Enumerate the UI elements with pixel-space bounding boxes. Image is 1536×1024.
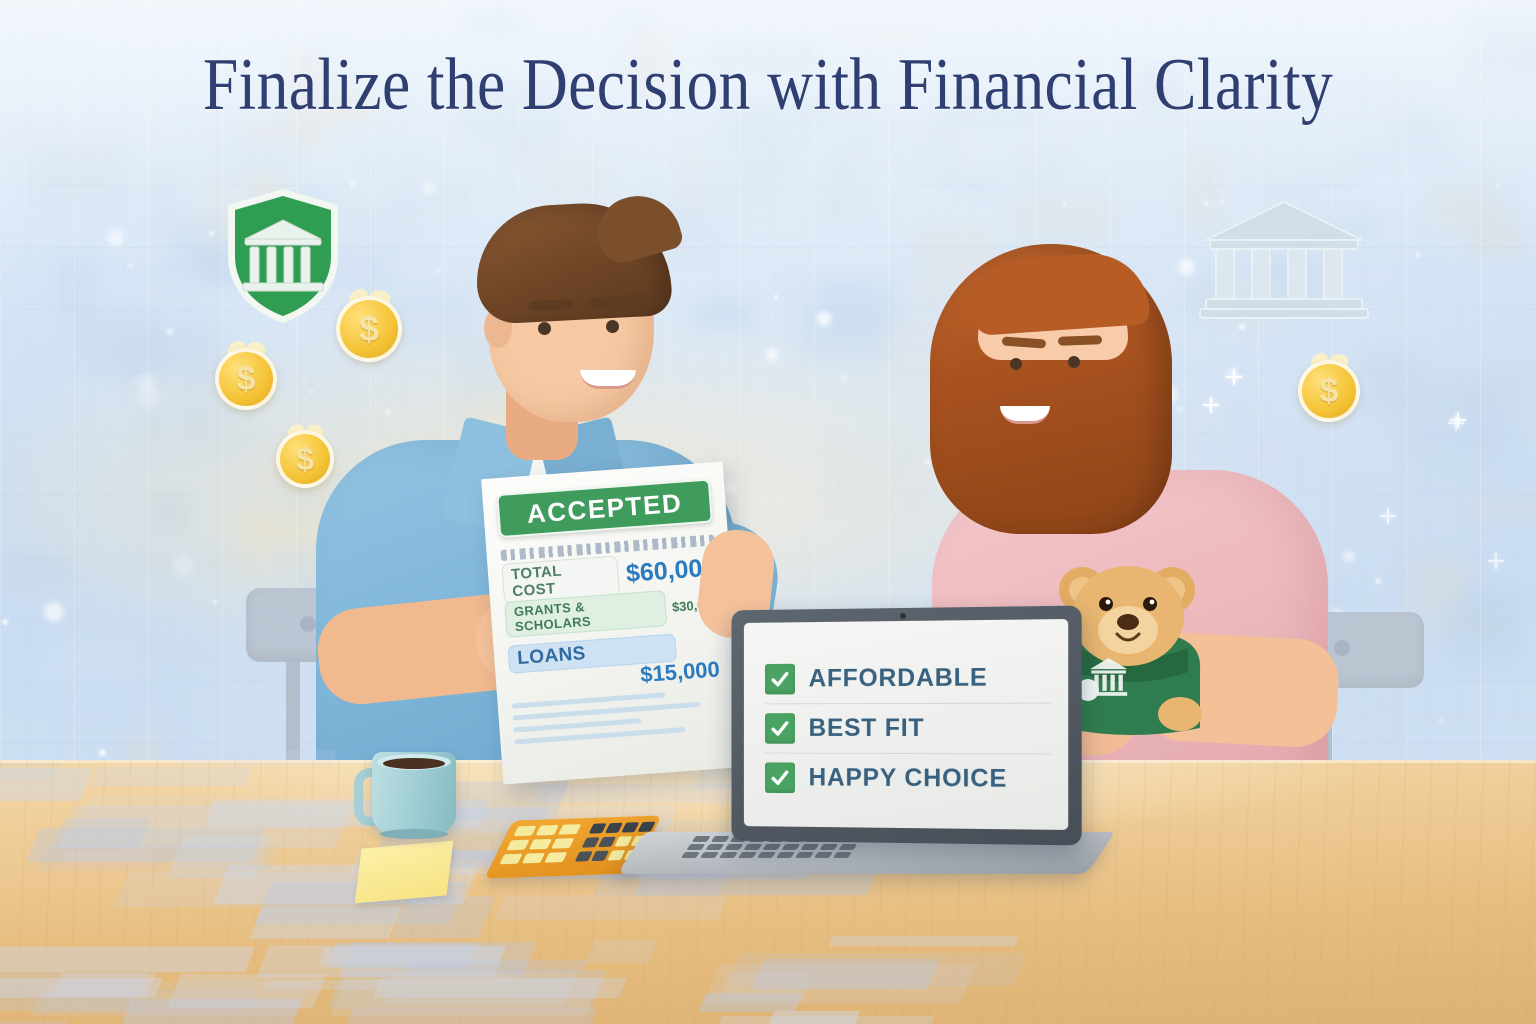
status-badge-accepted: ACCEPTED xyxy=(496,479,713,539)
checklist-label: BEST FIT xyxy=(809,714,925,743)
man-eye-left xyxy=(538,322,551,335)
page-title: Finalize the Decision with Financial Cla… xyxy=(108,48,1429,122)
illustration-canvas: Finalize the Decision with Financial Cla… xyxy=(0,0,1536,1024)
mug-foot xyxy=(380,829,448,839)
man-eye-right xyxy=(606,320,619,333)
check-icon xyxy=(765,664,795,695)
woman-eye-left xyxy=(1010,358,1022,370)
coffee-mug[interactable] xyxy=(372,752,456,834)
mug-body xyxy=(372,752,456,834)
checklist-label: HAPPY CHOICE xyxy=(809,764,1008,794)
laptop-lid: AFFORDABLE BEST FIT HAPPY CHOICE xyxy=(731,606,1081,846)
webcam-icon xyxy=(900,613,906,619)
letter-fine-print xyxy=(512,688,728,745)
check-icon xyxy=(765,713,795,744)
laptop-screen[interactable]: AFFORDABLE BEST FIT HAPPY CHOICE xyxy=(744,619,1068,830)
money-bag-coin-icon: $ xyxy=(1298,360,1360,422)
woman-brow-right xyxy=(1058,335,1102,346)
checklist-item-happy-choice[interactable]: HAPPY CHOICE xyxy=(765,753,1052,805)
shield-bank-icon xyxy=(222,186,344,326)
letter-row-total-cost: TOTAL COST $60,000 xyxy=(502,554,717,597)
loans-amount: $15,000 xyxy=(639,656,720,688)
money-bag-coin-icon: $ xyxy=(276,430,334,488)
bank-building-icon xyxy=(1196,196,1372,322)
checklist-label: AFFORDABLE xyxy=(809,663,988,693)
checklist-item-affordable[interactable]: AFFORDABLE xyxy=(765,653,1052,704)
sticky-note[interactable] xyxy=(355,841,453,904)
checklist-item-best-fit[interactable]: BEST FIT xyxy=(765,703,1052,754)
coffee-surface xyxy=(383,758,445,769)
money-bag-coin-icon: $ xyxy=(215,348,277,410)
money-bag-coin-icon: $ xyxy=(336,296,402,362)
accepted-label: ACCEPTED xyxy=(526,487,684,529)
check-icon xyxy=(765,762,795,793)
woman-eye-right xyxy=(1068,356,1080,368)
